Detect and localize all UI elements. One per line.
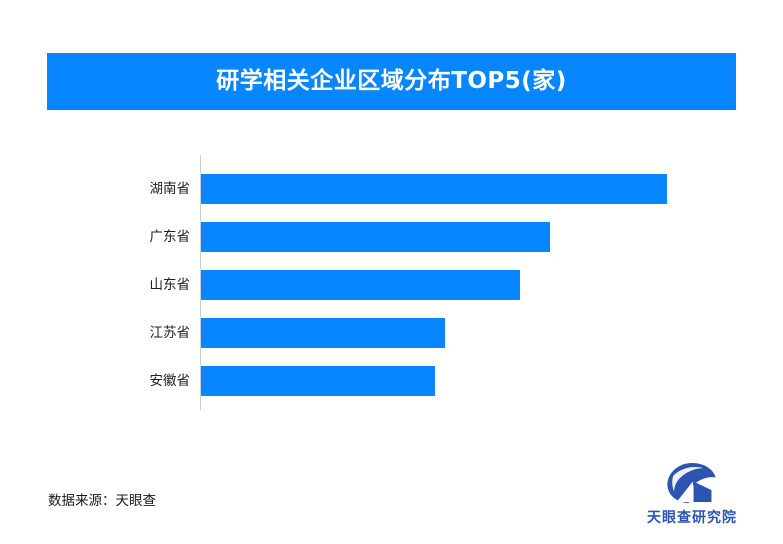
brand-name-label: 天眼查研究院 <box>647 507 737 527</box>
chart-bar-row: 湖南省 <box>0 174 783 204</box>
chart-bar-row: 江苏省 <box>0 318 783 348</box>
bar-value[interactable] <box>201 174 667 204</box>
bar-category-label: 安徽省 <box>60 366 190 396</box>
chart-bar-row: 山东省 <box>0 270 783 300</box>
bar-track <box>201 318 445 348</box>
title-banner: 研学相关企业区域分布TOP5(家) <box>47 53 736 110</box>
brand-block: 天眼查研究院 <box>633 462 751 532</box>
bar-chart: 湖南省 广东省 山东省 江苏省 安徽省 <box>0 150 783 412</box>
chart-bar-row: 广东省 <box>0 222 783 252</box>
bar-value[interactable] <box>201 270 520 300</box>
bar-category-label: 湖南省 <box>60 174 190 204</box>
bar-track <box>201 174 667 204</box>
bar-value[interactable] <box>201 366 435 396</box>
bar-category-label: 江苏省 <box>60 318 190 348</box>
bar-track <box>201 366 435 396</box>
infographic-root: 研学相关企业区域分布TOP5(家) 湖南省 广东省 山东省 江苏省 <box>0 0 783 544</box>
data-source-note: 数据来源：天眼查 <box>48 489 156 509</box>
bar-value[interactable] <box>201 318 445 348</box>
bar-track <box>201 270 520 300</box>
chart-bar-row: 安徽省 <box>0 366 783 396</box>
bar-category-label: 山东省 <box>60 270 190 300</box>
bar-category-label: 广东省 <box>60 222 190 252</box>
tianyancha-logo-icon <box>666 462 718 504</box>
page-title: 研学相关企业区域分布TOP5(家) <box>216 70 567 93</box>
bar-value[interactable] <box>201 222 550 252</box>
bar-track <box>201 222 550 252</box>
